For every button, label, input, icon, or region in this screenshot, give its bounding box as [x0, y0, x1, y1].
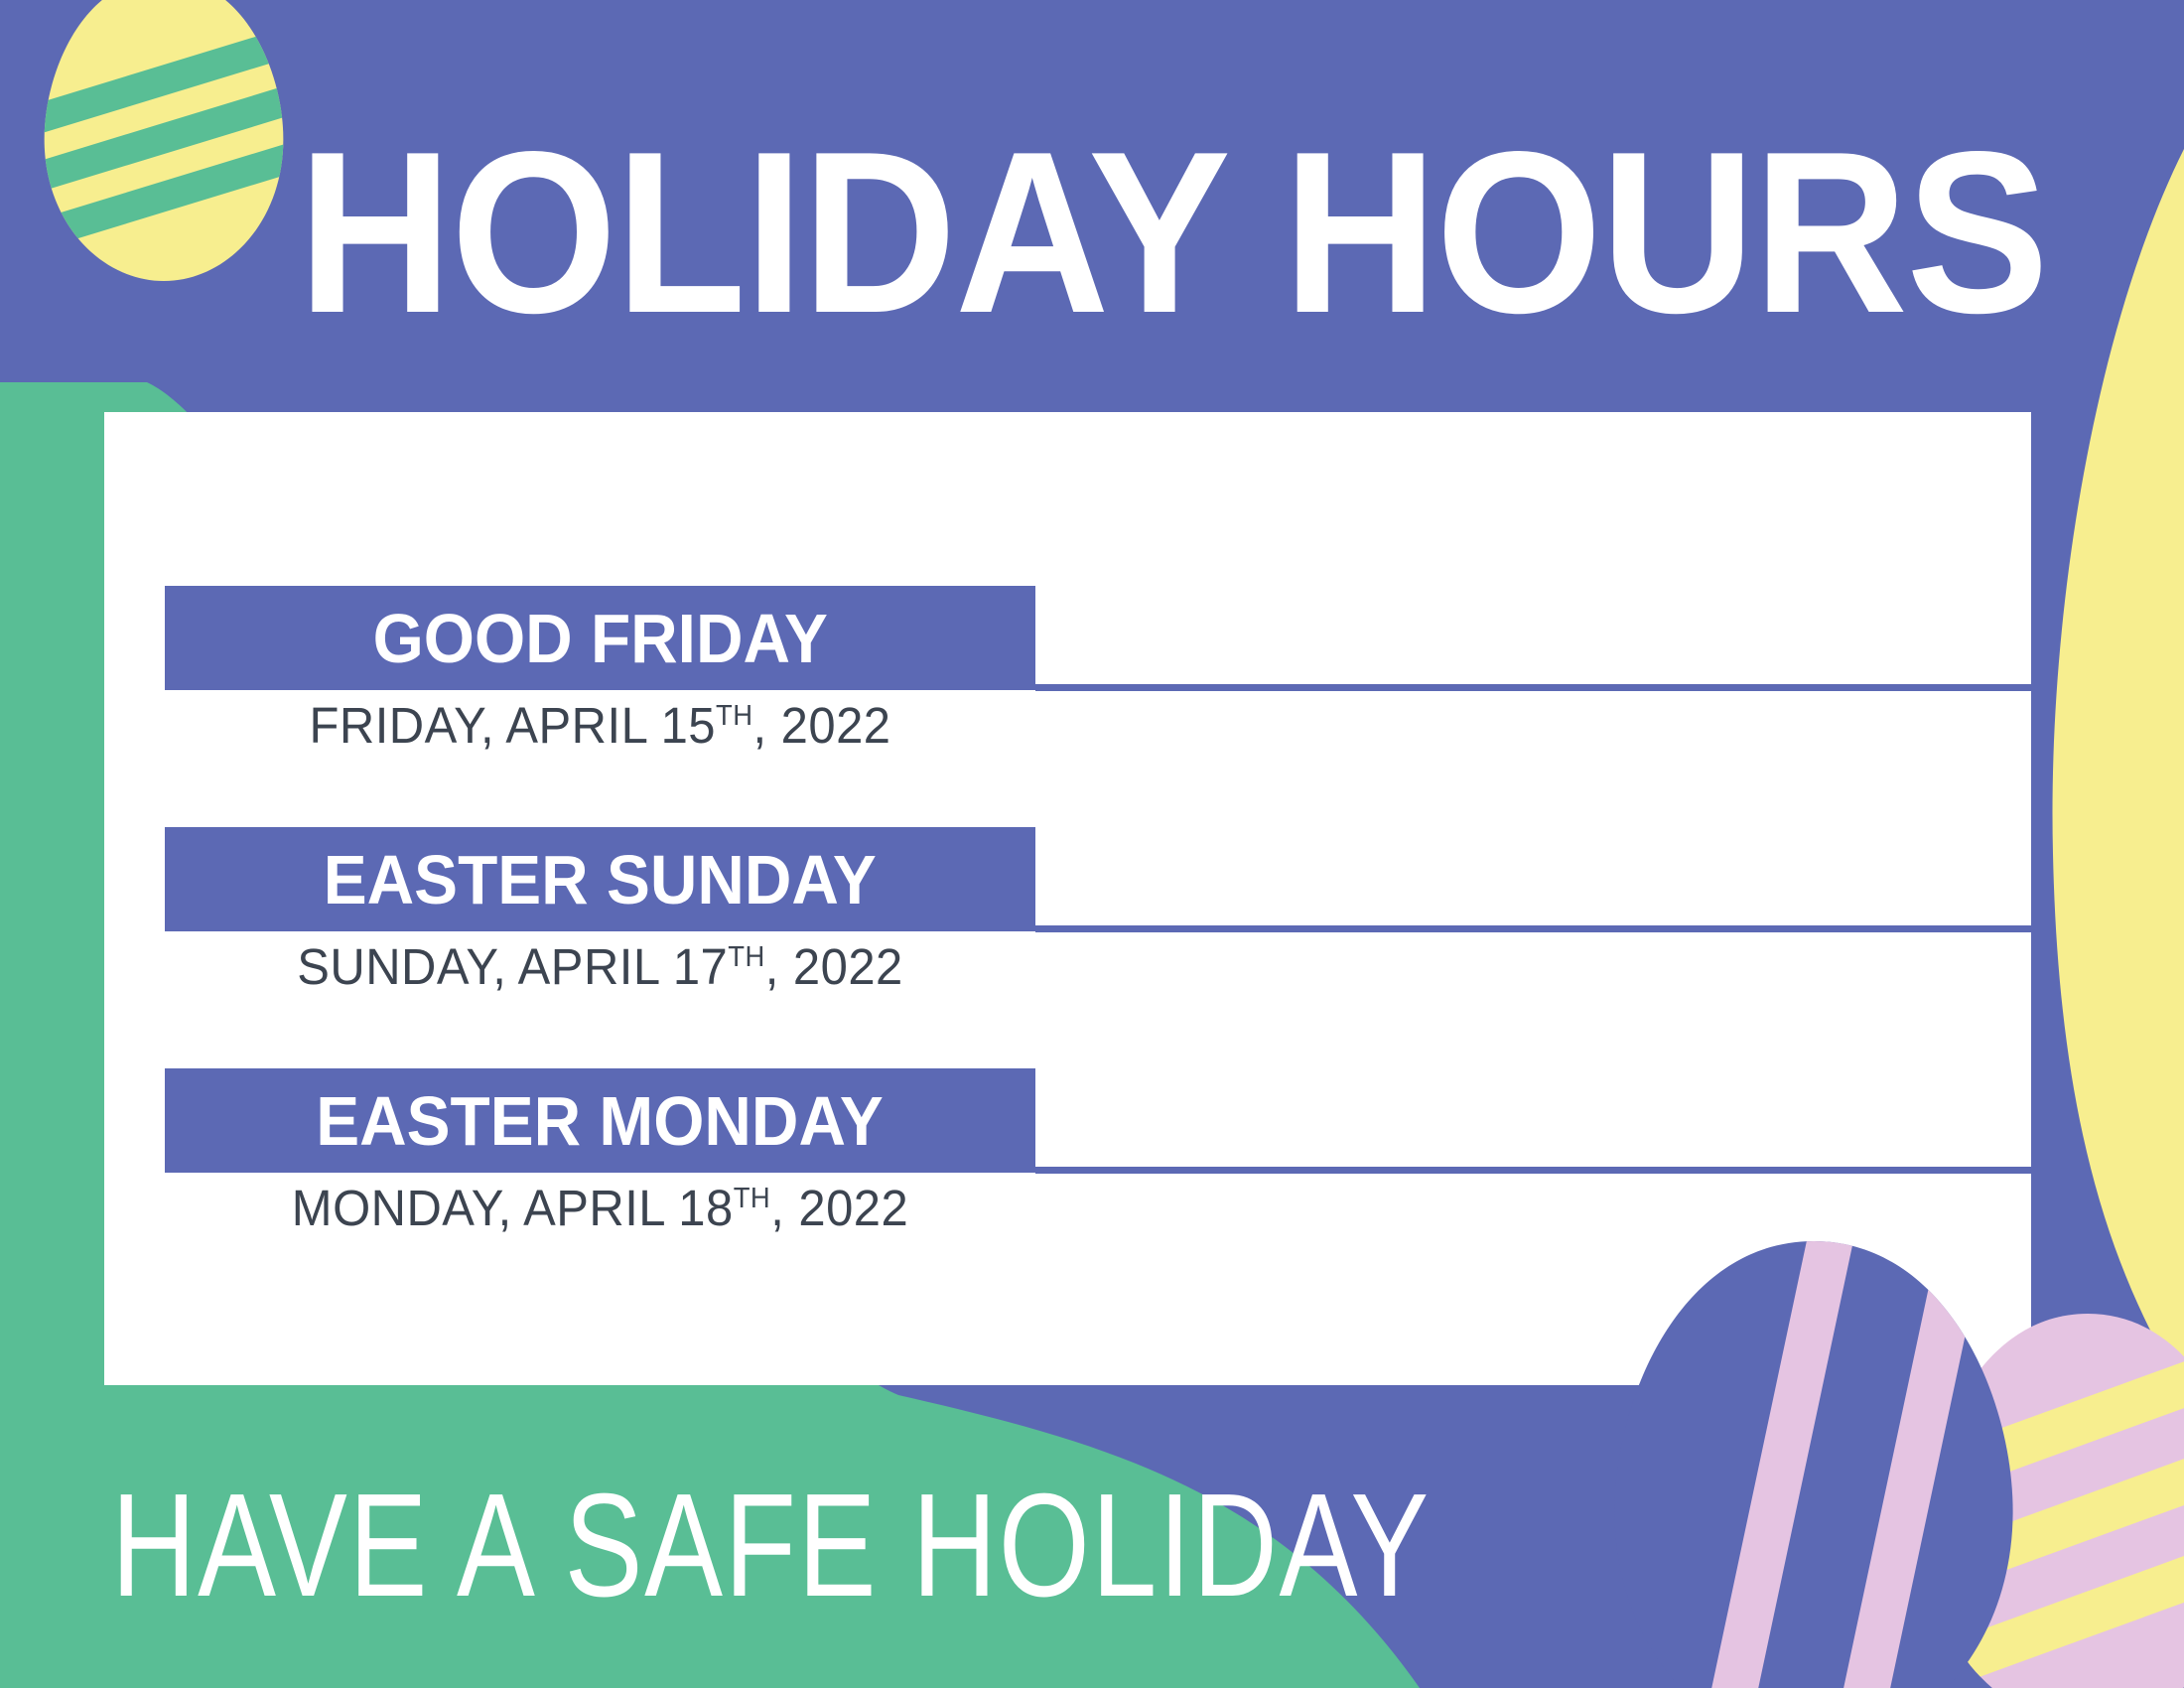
holiday-hours-poster: HOLIDAY HOURS GOOD FRIDAY FRIDAY, APRIL … — [0, 0, 2184, 1688]
easter-egg-icon-purple — [1614, 1172, 2012, 1688]
foreground-shapes — [0, 0, 2184, 1688]
slogan-text: HAVE A SAFE HOLIDAY — [111, 1472, 1431, 1620]
